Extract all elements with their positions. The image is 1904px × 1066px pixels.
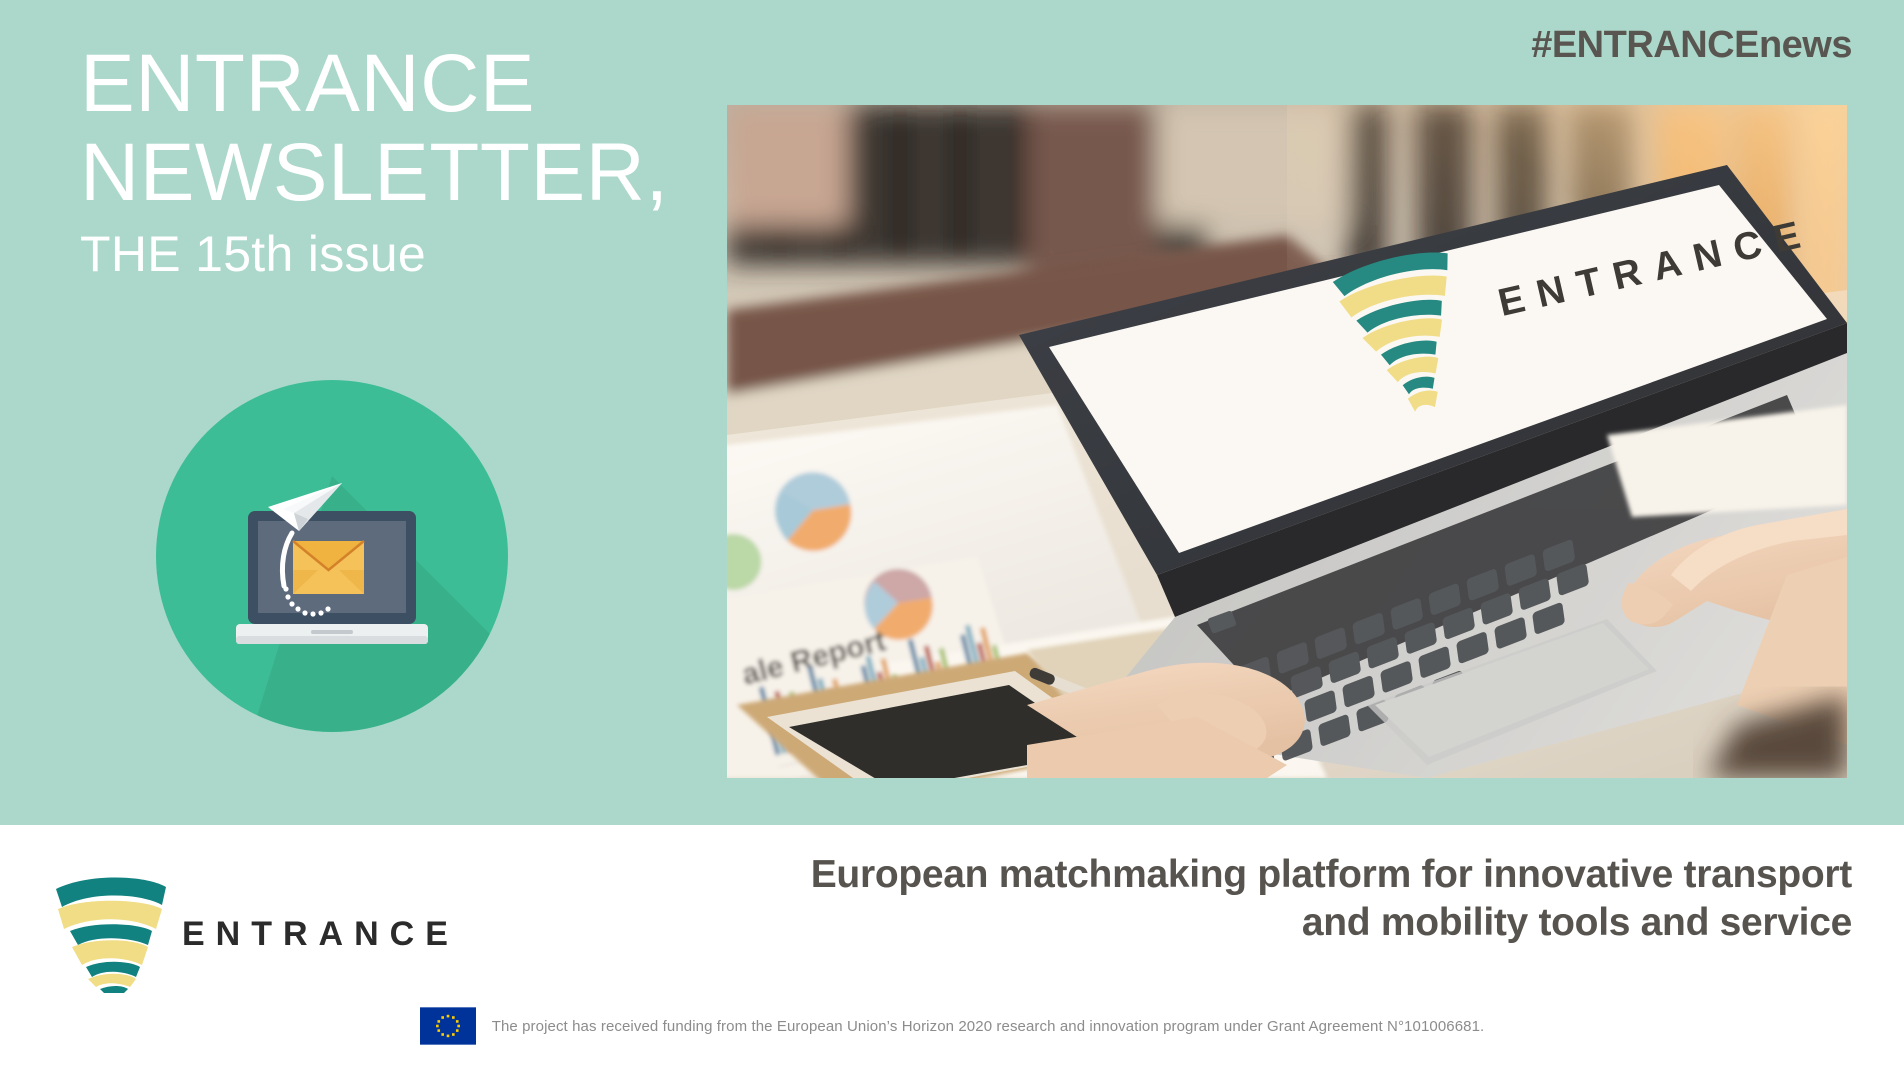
tagline-line-2: and mobility tools and service bbox=[532, 899, 1852, 947]
footer-band: ENTRANCE European matchmaking platform f… bbox=[0, 825, 1904, 1066]
entrance-spiral-icon bbox=[48, 875, 168, 993]
funding-text: The project has received funding from th… bbox=[492, 1018, 1485, 1035]
funding-disclaimer: The project has received funding from th… bbox=[0, 1007, 1904, 1045]
newsletter-banner: #ENTRANCEnews ENTRANCE NEWSLETTER, THE 1… bbox=[0, 0, 1904, 1066]
mint-header-band: #ENTRANCEnews ENTRANCE NEWSLETTER, THE 1… bbox=[0, 0, 1904, 825]
issue-subtitle: THE 15th issue bbox=[80, 217, 720, 292]
title-line-1: ENTRANCE bbox=[80, 40, 720, 129]
title-line-2: NEWSLETTER, bbox=[80, 129, 720, 218]
entrance-wordmark: ENTRANCE bbox=[182, 915, 459, 954]
eu-flag-icon bbox=[420, 1007, 476, 1045]
laptop-desk-photo: ale Report Summary bbox=[727, 105, 1847, 778]
hashtag-label: #ENTRANCEnews bbox=[1531, 24, 1852, 67]
newsletter-email-icon bbox=[156, 380, 508, 732]
page-title: ENTRANCE NEWSLETTER, THE 15th issue bbox=[80, 40, 720, 292]
tagline-line-1: European matchmaking platform for innova… bbox=[532, 851, 1852, 899]
entrance-logo: ENTRANCE bbox=[48, 875, 459, 993]
tagline: European matchmaking platform for innova… bbox=[532, 851, 1852, 946]
